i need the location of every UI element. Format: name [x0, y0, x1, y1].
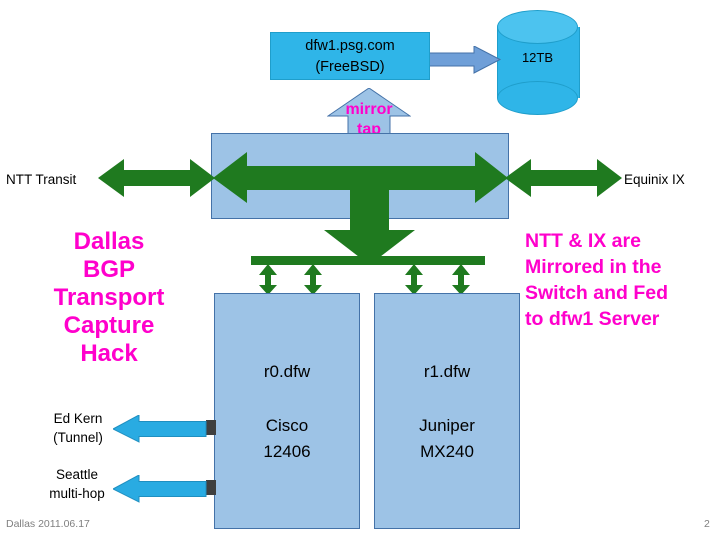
arrow-to-disk-icon	[428, 46, 502, 74]
footer-date: Dallas 2011.06.17	[6, 518, 90, 530]
ed-kern-line2: (Tunnel)	[36, 428, 120, 447]
mirror-note-line4: to dfw1 Server	[525, 306, 717, 332]
router-r0-box[interactable]: r0.dfw Cisco 12406	[214, 293, 360, 529]
router-r1-box[interactable]: r1.dfw Juniper MX240	[374, 293, 520, 529]
mirror-note: NTT & IX are Mirrored in the Switch and …	[525, 228, 717, 332]
mirror-tap-line1: mirror	[330, 100, 408, 120]
double-arrow-vertical-icon	[258, 264, 278, 296]
hack-title-line2: BGP	[14, 256, 204, 284]
hack-title-line4: Capture	[14, 312, 204, 340]
seattle-port-stub	[206, 480, 216, 495]
double-arrow-left-icon	[98, 157, 216, 199]
router-r1-name: r1.dfw	[375, 362, 519, 382]
down-arrow-icon	[324, 190, 416, 266]
router-r1-model: MX240	[375, 442, 519, 462]
storage-capacity-label: 12TB	[497, 50, 578, 65]
storage-cylinder-bottom	[497, 81, 578, 115]
mirror-note-line1: NTT & IX are	[525, 228, 717, 254]
ntt-transit-label: NTT Transit	[6, 172, 76, 187]
mirror-note-line3: Switch and Fed	[525, 280, 717, 306]
equinix-ix-label: Equinix IX	[624, 172, 685, 187]
server-os: (FreeBSD)	[271, 57, 429, 78]
left-arrow-icon	[113, 475, 207, 503]
storage-cylinder-top	[497, 10, 578, 44]
double-arrow-vertical-icon	[404, 264, 424, 296]
ed-kern-port-stub	[206, 420, 216, 435]
router-r0-name: r0.dfw	[215, 362, 359, 382]
ed-kern-line1: Ed Kern	[36, 409, 120, 428]
hack-title: Dallas BGP Transport Capture Hack	[14, 228, 204, 368]
left-arrow-icon	[113, 415, 207, 443]
server-box[interactable]: dfw1.psg.com (FreeBSD)	[270, 32, 430, 80]
double-arrow-vertical-icon	[451, 264, 471, 296]
router-r0-model: 12406	[215, 442, 359, 462]
seattle-line2: multi-hop	[34, 484, 120, 503]
footer-page-number: 2	[704, 518, 710, 530]
seattle-line1: Seattle	[34, 465, 120, 484]
hack-title-line3: Transport	[14, 284, 204, 312]
double-arrow-vertical-icon	[303, 264, 323, 296]
server-hostname: dfw1.psg.com	[271, 36, 429, 57]
mirror-note-line2: Mirrored in the	[525, 254, 717, 280]
seattle-label: Seattle multi-hop	[34, 465, 120, 503]
double-arrow-right-icon	[505, 157, 623, 199]
ed-kern-label: Ed Kern (Tunnel)	[36, 409, 120, 447]
router-r1-vendor: Juniper	[375, 416, 519, 436]
hack-title-line5: Hack	[14, 340, 204, 368]
bus-bar	[251, 256, 485, 265]
hack-title-line1: Dallas	[14, 228, 204, 256]
slide-canvas: 12TB dfw1.psg.com (FreeBSD) mirror tap	[0, 0, 720, 540]
router-r0-vendor: Cisco	[215, 416, 359, 436]
